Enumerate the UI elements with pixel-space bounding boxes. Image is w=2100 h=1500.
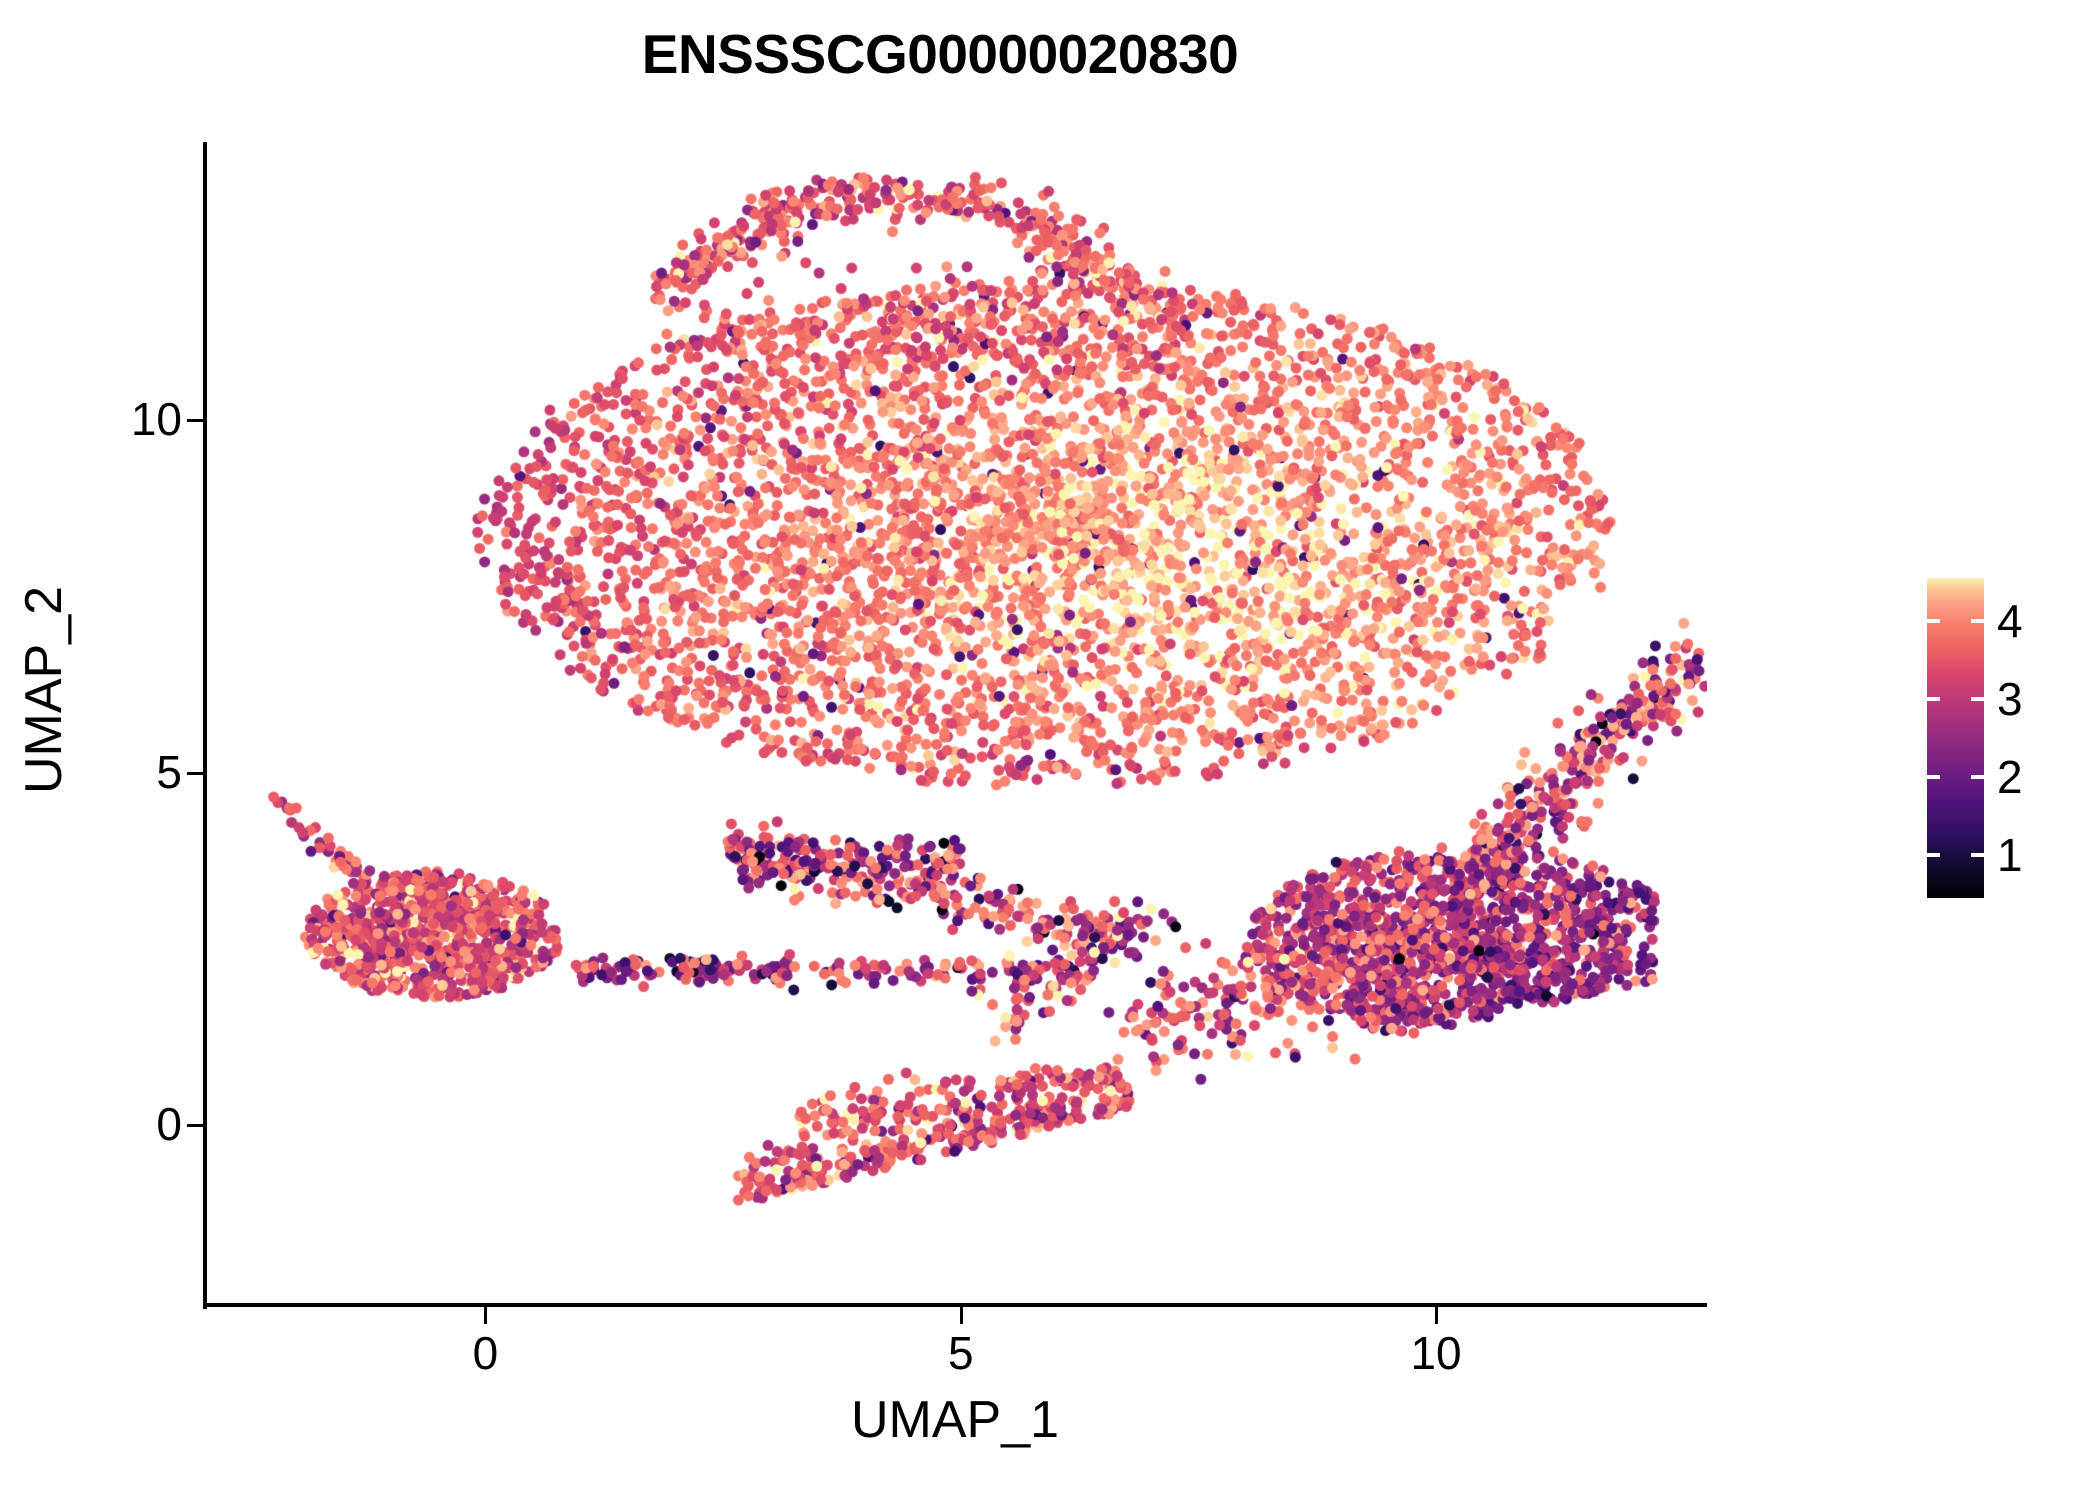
colorbar-tick-mark <box>1971 775 1984 779</box>
umap-feature-plot: ENSSSCG00000020830 0510 0510 UMAP_1 UMAP… <box>0 0 2100 1500</box>
x-tick-label: 10 <box>1410 1330 1461 1376</box>
scatter-point-cloud <box>205 142 1707 1305</box>
y-tick-label: 5 <box>156 749 182 795</box>
colorbar-legend: 1234 <box>1927 578 1984 898</box>
x-axis-title: UMAP_1 <box>203 1390 1707 1450</box>
colorbar-tick-mark <box>1927 853 1940 857</box>
y-axis-line <box>203 142 207 1309</box>
colorbar-tick-label: 1 <box>1997 832 2023 878</box>
colorbar-tick-mark <box>1927 697 1940 701</box>
plot-panel <box>205 142 1707 1305</box>
colorbar-tick-label: 2 <box>1997 754 2023 800</box>
colorbar-tick-mark <box>1927 619 1940 623</box>
x-axis-line <box>203 1303 1707 1307</box>
colorbar-tick-mark <box>1927 775 1940 779</box>
y-tick-mark <box>187 419 203 422</box>
x-tick-mark <box>484 1307 487 1324</box>
x-tick-mark <box>960 1307 963 1324</box>
x-tick-mark <box>1435 1307 1438 1324</box>
page-title: ENSSSCG00000020830 <box>0 22 1880 86</box>
x-tick-label: 5 <box>948 1330 974 1376</box>
colorbar-gradient <box>1927 578 1984 898</box>
colorbar-tick-mark <box>1971 853 1984 857</box>
y-tick-mark <box>187 772 203 775</box>
colorbar-tick-mark <box>1971 619 1984 623</box>
colorbar-tick-mark <box>1971 697 1984 701</box>
y-axis-title: UMAP_2 <box>14 390 74 990</box>
y-tick-mark <box>187 1124 203 1127</box>
colorbar-tick-label: 4 <box>1997 598 2023 644</box>
x-tick-label: 0 <box>473 1330 499 1376</box>
y-tick-label: 0 <box>156 1101 182 1147</box>
y-tick-label: 10 <box>131 396 182 442</box>
colorbar-tick-label: 3 <box>1997 676 2023 722</box>
